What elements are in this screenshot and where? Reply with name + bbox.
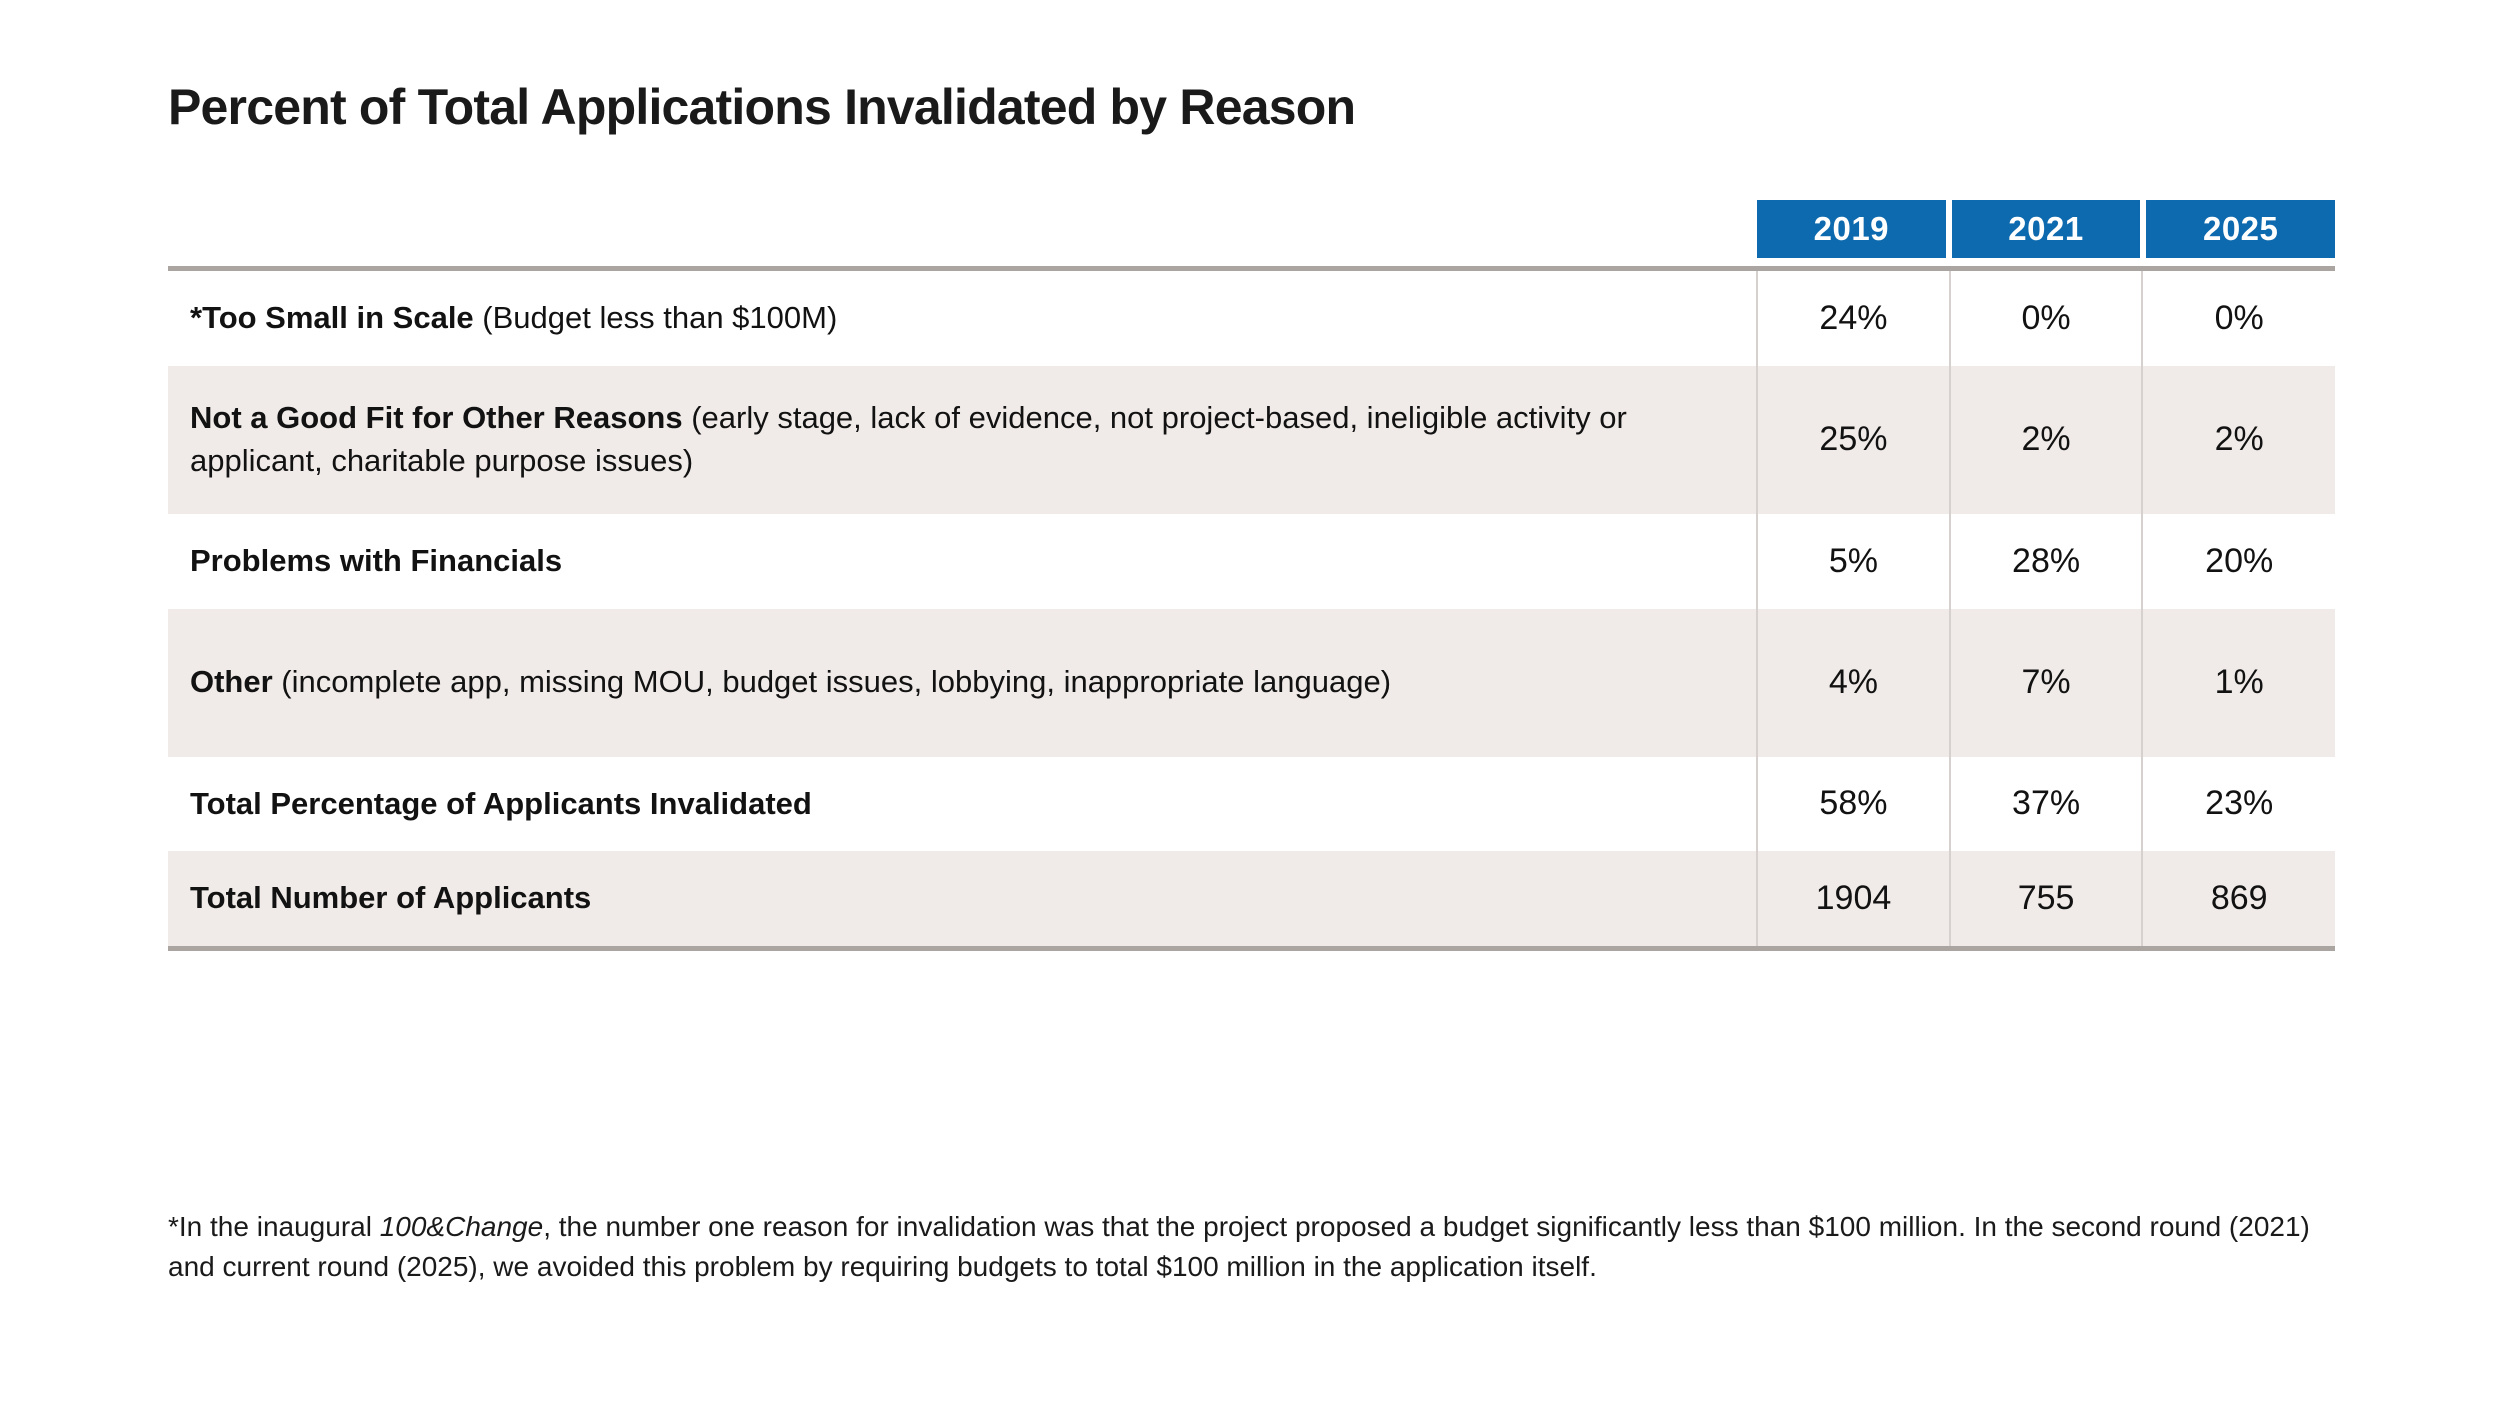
cell-2025: 20% (2142, 514, 2335, 609)
cell-2025: 869 (2142, 851, 2335, 946)
cell-2021: 0% (1950, 271, 2143, 366)
cell-2019: 25% (1757, 366, 1950, 514)
row-label-too-small-in-scale: *Too Small in Scale (Budget less than $1… (168, 271, 1757, 366)
table-row: Problems with Financials 5% 28% 20% (168, 514, 2335, 609)
row-label-rest: (incomplete app, missing MOU, budget iss… (273, 664, 1391, 699)
cell-2021: 28% (1950, 514, 2143, 609)
table-figure-page: Percent of Total Applications Invalidate… (0, 0, 2500, 1407)
footnote: *In the inaugural 100&Change, the number… (168, 1207, 2343, 1287)
cell-2025: 1% (2142, 609, 2335, 757)
table-row: Total Number of Applicants 1904 755 869 (168, 851, 2335, 946)
cell-2021: 7% (1950, 609, 2143, 757)
row-label-rest: (Budget less than $100M) (474, 300, 838, 335)
row-label-not-a-good-fit: Not a Good Fit for Other Reasons (early … (168, 366, 1757, 514)
row-label-lead: Other (190, 664, 273, 699)
table-row: Not a Good Fit for Other Reasons (early … (168, 366, 2335, 514)
page-title: Percent of Total Applications Invalidate… (168, 78, 1355, 136)
table-row: Other (incomplete app, missing MOU, budg… (168, 609, 2335, 757)
row-label-lead: *Too Small in Scale (190, 300, 474, 335)
column-header-2019: 2019 (1757, 200, 1946, 258)
cell-2025: 0% (2142, 271, 2335, 366)
footnote-part-1: *In the inaugural (168, 1211, 380, 1242)
footnote-program-name: 100&Change (380, 1211, 543, 1242)
cell-2019: 5% (1757, 514, 1950, 609)
table-row: Total Percentage of Applicants Invalidat… (168, 757, 2335, 852)
cell-2025: 2% (2142, 366, 2335, 514)
cell-2019: 24% (1757, 271, 1950, 366)
table-body: *Too Small in Scale (Budget less than $1… (168, 271, 2335, 946)
cell-2025: 23% (2142, 757, 2335, 852)
row-label-total-percentage-invalidated: Total Percentage of Applicants Invalidat… (168, 757, 1757, 852)
table-row: *Too Small in Scale (Budget less than $1… (168, 271, 2335, 366)
cell-2021: 37% (1950, 757, 2143, 852)
row-label-lead: Total Percentage of Applicants Invalidat… (190, 786, 812, 821)
row-label-other: Other (incomplete app, missing MOU, budg… (168, 609, 1757, 757)
cell-2021: 2% (1950, 366, 2143, 514)
column-header-2021: 2021 (1952, 200, 2141, 258)
column-header-2025: 2025 (2146, 200, 2335, 258)
row-label-lead: Not a Good Fit for Other Reasons (190, 400, 683, 435)
cell-2019: 1904 (1757, 851, 1950, 946)
year-column-header-row: 2019 2021 2025 (1757, 200, 2335, 258)
row-label-lead: Total Number of Applicants (190, 880, 591, 915)
cell-2019: 4% (1757, 609, 1950, 757)
cell-2019: 58% (1757, 757, 1950, 852)
row-label-problems-with-financials: Problems with Financials (168, 514, 1757, 609)
cell-2021: 755 (1950, 851, 2143, 946)
invalidation-table: *Too Small in Scale (Budget less than $1… (168, 266, 2335, 951)
row-label-lead: Problems with Financials (190, 543, 562, 578)
row-label-total-number-of-applicants: Total Number of Applicants (168, 851, 1757, 946)
